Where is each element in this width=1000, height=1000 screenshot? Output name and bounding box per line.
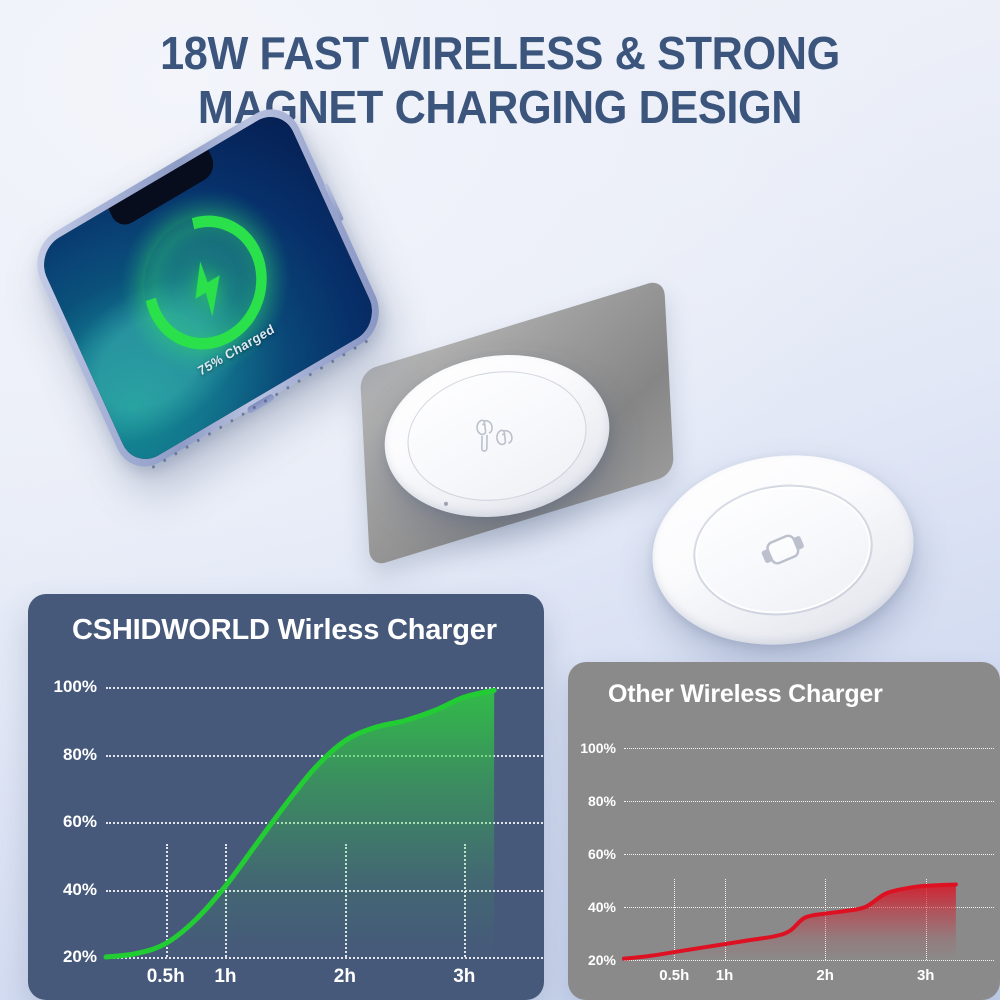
phone-screen: 75% Charged: [35, 107, 381, 470]
watch-pad-surface: [687, 476, 879, 625]
chart-plot-right: 100%80%60%40%20%0.5h1h2h3h: [624, 748, 976, 960]
gridline-y: [106, 957, 544, 959]
y-axis-tick-label: 100%: [580, 740, 616, 756]
gridline-y: [624, 960, 994, 961]
y-axis-tick-label: 80%: [63, 745, 97, 765]
phone-body: 75% Charged: [26, 97, 390, 480]
x-axis-tick-label: 3h: [917, 967, 935, 984]
chart-panel-other: Other Wireless Charger 100%80%60%40%20%0…: [568, 662, 1000, 1000]
chart-series: [624, 748, 976, 960]
earbuds-icon: [471, 412, 523, 461]
smartphone: 75% Charged: [26, 97, 390, 480]
chart-title-right: Other Wireless Charger: [608, 680, 883, 709]
y-axis-tick-label: 60%: [63, 812, 97, 832]
y-axis-tick-label: 100%: [54, 677, 97, 697]
y-axis-tick-label: 40%: [588, 899, 616, 915]
page-title: 18W FAST WIRELESS & STRONG MAGNET CHARGI…: [30, 26, 970, 135]
x-axis-tick-label: 1h: [716, 967, 734, 984]
smartwatch-icon: [755, 530, 811, 570]
watch-charging-pad: [642, 441, 925, 660]
chart-panel-cshidworld: CSHIDWORLD Wirless Charger 100%80%60%40%…: [28, 594, 544, 1000]
chart-series: [106, 687, 524, 957]
series-area: [624, 884, 956, 960]
x-axis-tick-label: 2h: [816, 967, 834, 984]
chart-plot-left: 100%80%60%40%20%0.5h1h2h3h: [106, 687, 524, 957]
earbuds-pad-surface: [398, 359, 597, 514]
x-axis-tick-label: 3h: [453, 966, 475, 988]
series-area: [106, 690, 494, 957]
x-axis-tick-label: 0.5h: [147, 966, 185, 988]
headline-line-1: 18W FAST WIRELESS & STRONG: [30, 26, 970, 80]
x-axis-tick-label: 0.5h: [659, 967, 689, 984]
product-marketing-image: 18W FAST WIRELESS & STRONG MAGNET CHARGI…: [0, 0, 1000, 1000]
y-axis-tick-label: 80%: [588, 793, 616, 809]
status-led-icon: [443, 501, 448, 506]
y-axis-tick-label: 60%: [588, 846, 616, 862]
y-axis-tick-label: 40%: [63, 880, 97, 900]
headline-line-2: MAGNET CHARGING DESIGN: [30, 80, 970, 134]
y-axis-tick-label: 20%: [63, 947, 97, 967]
x-axis-tick-label: 1h: [214, 966, 236, 988]
x-axis-tick-label: 2h: [334, 966, 356, 988]
y-axis-tick-label: 20%: [588, 952, 616, 968]
product-photo: 75% Charged: [0, 140, 1000, 610]
chart-title-left: CSHIDWORLD Wirless Charger: [72, 614, 497, 647]
